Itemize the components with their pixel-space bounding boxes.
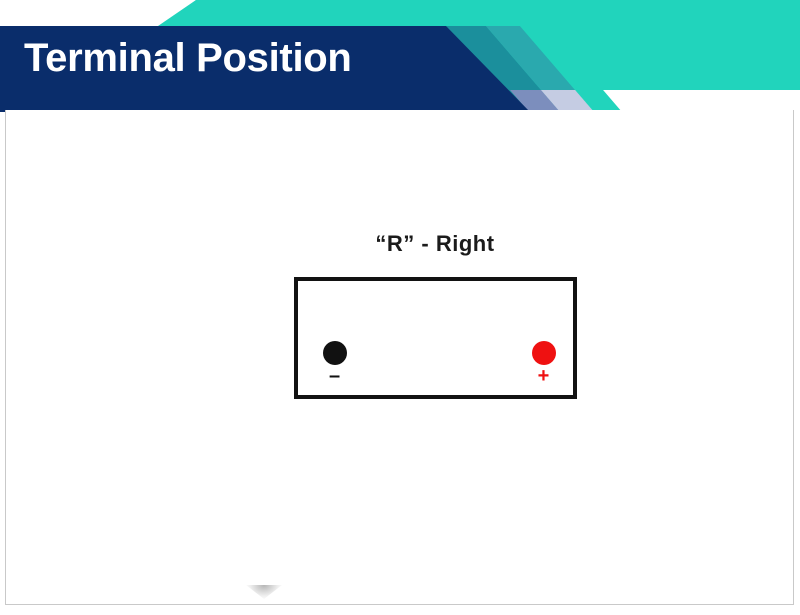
teal-band-left-fill xyxy=(165,0,800,26)
diagram-label: “R” - Right xyxy=(287,231,583,257)
slide-header: Terminal Position xyxy=(0,0,800,112)
negative-terminal-post-icon xyxy=(323,341,347,365)
terminal-position-diagram: “R” - Right – + xyxy=(287,231,583,399)
negative-terminal: – xyxy=(320,341,350,383)
positive-terminal-post-icon xyxy=(532,341,556,365)
page-title: Terminal Position xyxy=(24,38,352,78)
negative-terminal-sign: – xyxy=(320,369,350,383)
slide-content: “R” - Right – + xyxy=(6,111,793,604)
positive-terminal-sign: + xyxy=(529,369,559,383)
battery-outline: – + xyxy=(294,277,577,399)
positive-terminal: + xyxy=(529,341,559,383)
slide: Terminal Position “R” - Right – + xyxy=(0,0,800,615)
